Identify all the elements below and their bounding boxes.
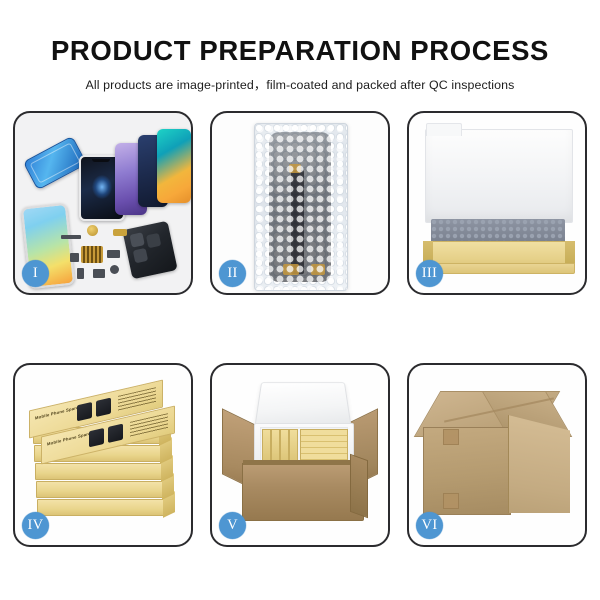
step-badge-2: II bbox=[219, 260, 246, 287]
box-label-upper-lines bbox=[118, 387, 156, 412]
small-part-a-icon bbox=[70, 253, 79, 262]
yellow-box-row-icon bbox=[300, 429, 348, 461]
speaker-part-icon bbox=[110, 265, 119, 274]
page-title: PRODUCT PREPARATION PROCESS bbox=[0, 0, 600, 66]
process-step-3: Open kraft inner box with white lid and … bbox=[407, 111, 587, 295]
process-step-1: Assorted mobile phone LCD screens, back … bbox=[13, 111, 193, 295]
yellow-box-4-icon bbox=[289, 429, 298, 461]
wrapped-flex-cable-icon bbox=[291, 170, 304, 274]
box-label-upper-thumb-1 bbox=[77, 402, 92, 421]
carton-front-face-icon bbox=[423, 427, 511, 515]
process-step-5: Open brown carton with foam liner filled… bbox=[210, 363, 390, 547]
process-step-4: Mobile Phone Spare Parts Mobile Phone Sp… bbox=[13, 363, 193, 547]
connector-top-icon bbox=[289, 164, 301, 173]
kraft-box-front-icon bbox=[423, 263, 575, 274]
carton-side-face-icon bbox=[508, 415, 570, 513]
process-step-2: Single screen assembly wrapped in bubble… bbox=[210, 111, 390, 295]
carton-tape-lower-icon bbox=[443, 493, 459, 509]
flex-strip-icon bbox=[61, 235, 81, 239]
connector-bottom-left-icon bbox=[283, 264, 299, 275]
teal-phone-icon bbox=[157, 129, 191, 203]
yellow-box-1-icon bbox=[262, 429, 271, 461]
yellow-box-2-icon bbox=[271, 429, 280, 461]
yellow-box-3-icon bbox=[280, 429, 289, 461]
process-step-6: Sealed brown shipping carton ready for d… bbox=[407, 363, 587, 547]
infographic-page: PRODUCT PREPARATION PROCESS All products… bbox=[0, 0, 600, 600]
small-part-d-icon bbox=[93, 269, 105, 278]
white-box-lid-icon bbox=[425, 129, 573, 223]
box-label-upper-thumb-2 bbox=[96, 398, 111, 417]
ic-grid-icon bbox=[81, 246, 103, 263]
box-label-lower-thumb-1 bbox=[89, 428, 104, 447]
gold-part-icon bbox=[87, 225, 98, 236]
step-badge-6: VI bbox=[416, 512, 443, 539]
step-badge-4: IV bbox=[22, 512, 49, 539]
carton-body-side-icon bbox=[350, 454, 368, 519]
page-subtitle: All products are image-printed，film-coat… bbox=[0, 66, 600, 93]
process-grid: Assorted mobile phone LCD screens, back … bbox=[13, 111, 587, 547]
box-label-lower-lines bbox=[130, 413, 168, 438]
connector-bottom-right-icon bbox=[311, 264, 325, 275]
step-badge-1: I bbox=[22, 260, 49, 287]
small-part-b-icon bbox=[107, 250, 120, 258]
box-label-lower-thumb-2 bbox=[108, 424, 123, 443]
blue-back-cover-icon bbox=[23, 136, 87, 191]
black-back-housing-icon bbox=[122, 221, 177, 279]
header: PRODUCT PREPARATION PROCESS All products… bbox=[0, 0, 600, 93]
step-badge-3: III bbox=[416, 260, 443, 287]
foam-lid-icon bbox=[254, 382, 351, 427]
small-part-c-icon bbox=[77, 268, 84, 279]
carton-tape-upper-icon bbox=[443, 429, 459, 445]
bubble-wrap-bag-icon bbox=[254, 123, 348, 291]
carton-body-icon bbox=[242, 463, 364, 521]
step-badge-5: V bbox=[219, 512, 246, 539]
gold-flex-icon bbox=[113, 229, 127, 236]
yellow-box-stack-icon: Mobile Phone Spare Parts Mobile Phone Sp… bbox=[23, 381, 187, 529]
